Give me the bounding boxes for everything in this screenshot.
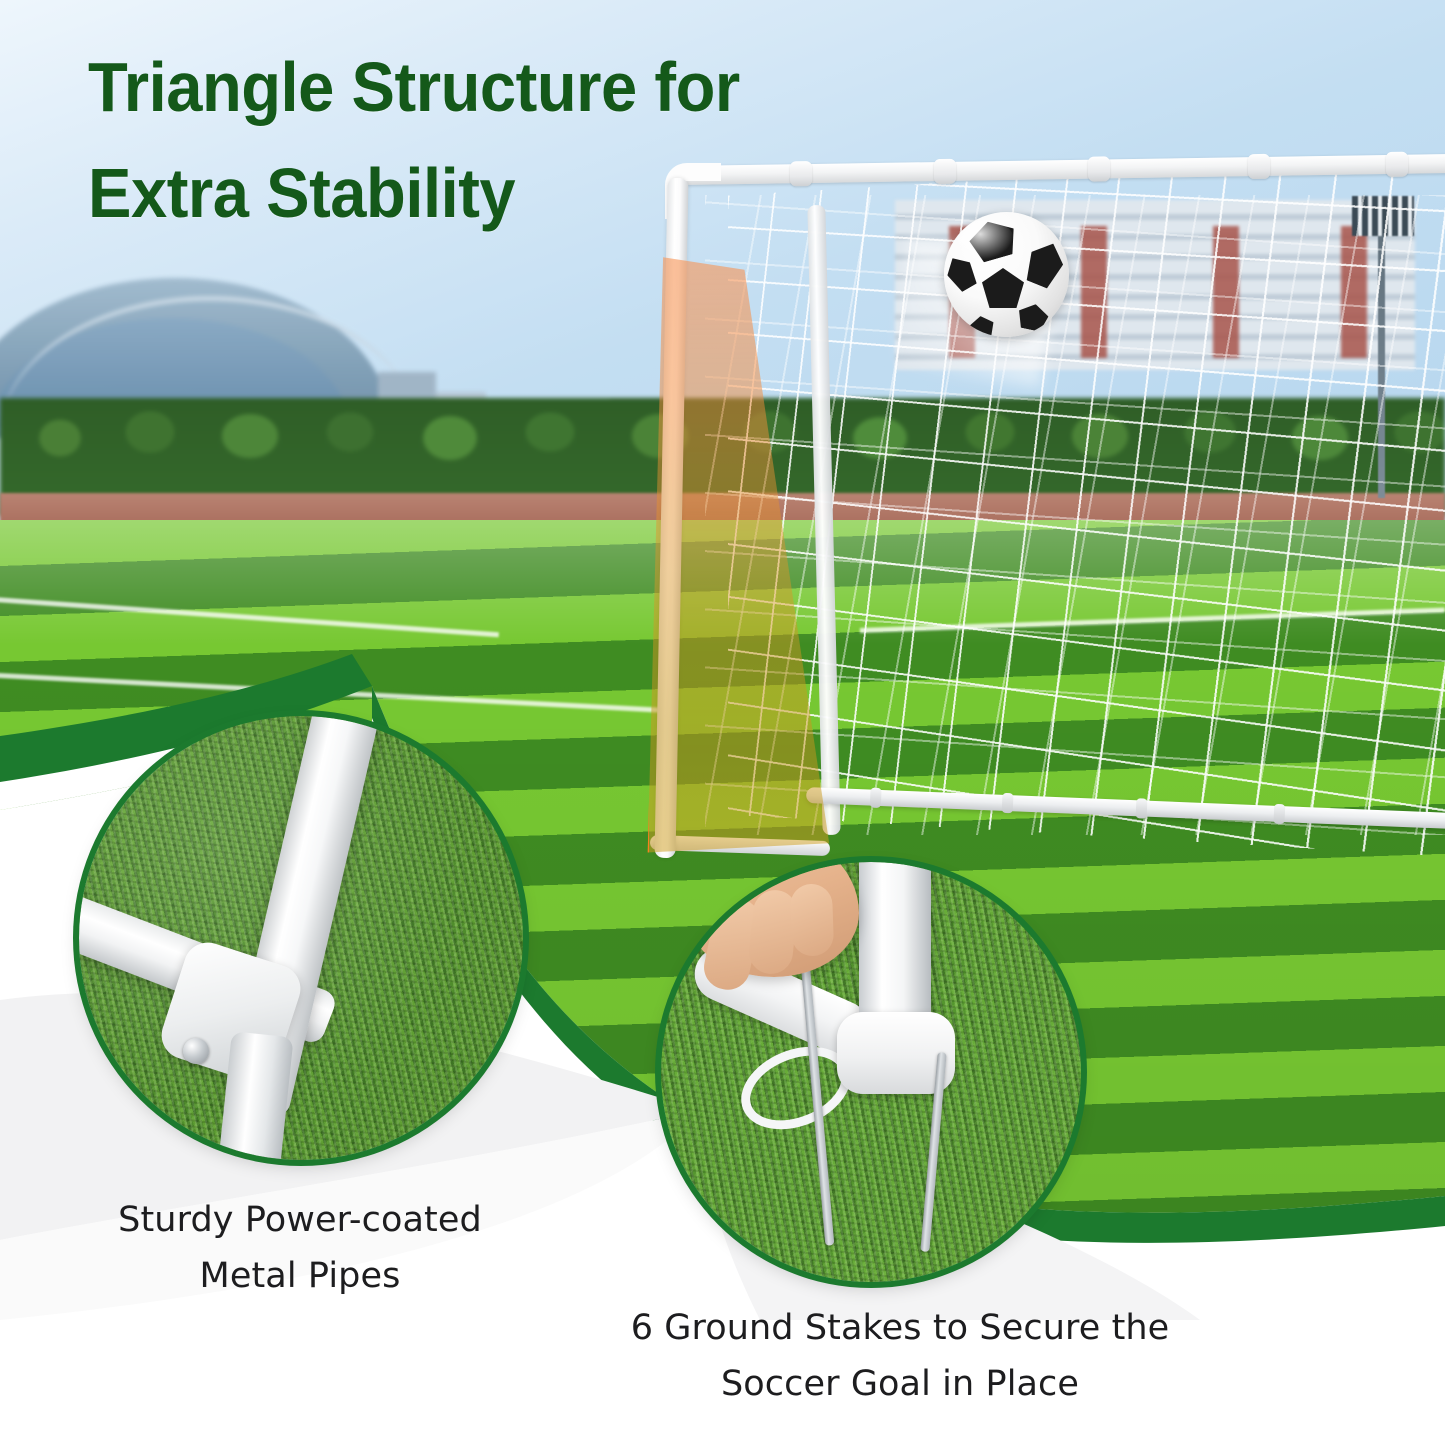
pipe-joint-closeup-inset — [79, 716, 523, 1160]
headline: Triangle Structure for Extra Stability — [88, 34, 962, 247]
caption-pipes-line-1: Sturdy Power-coated — [20, 1192, 580, 1248]
headline-line-1: Triangle Structure for — [88, 34, 962, 140]
headline-line-2: Extra Stability — [88, 140, 962, 246]
finger — [790, 883, 834, 956]
caption-stakes: 6 Ground Stakes to Secure the Soccer Goa… — [540, 1300, 1260, 1412]
pipe-connector — [1386, 152, 1408, 177]
caption-pipes: Sturdy Power-coated Metal Pipes — [20, 1192, 580, 1304]
soccer-ball — [944, 212, 1069, 337]
caption-stakes-line-2: Soccer Goal in Place — [540, 1356, 1260, 1412]
pipe-connector — [1248, 154, 1270, 179]
pipe-connector — [1088, 156, 1110, 181]
product-feature-image: Triangle Structure for Extra Stability S… — [0, 0, 1445, 1445]
caption-stakes-line-1: 6 Ground Stakes to Secure the — [540, 1300, 1260, 1356]
ball-highlight — [958, 220, 1014, 260]
joint-bolt — [183, 1038, 209, 1064]
ground-stake-closeup-inset — [661, 862, 1081, 1282]
caption-pipes-line-2: Metal Pipes — [20, 1248, 580, 1304]
ball-panel — [982, 268, 1024, 308]
ball-panel — [1021, 237, 1069, 291]
